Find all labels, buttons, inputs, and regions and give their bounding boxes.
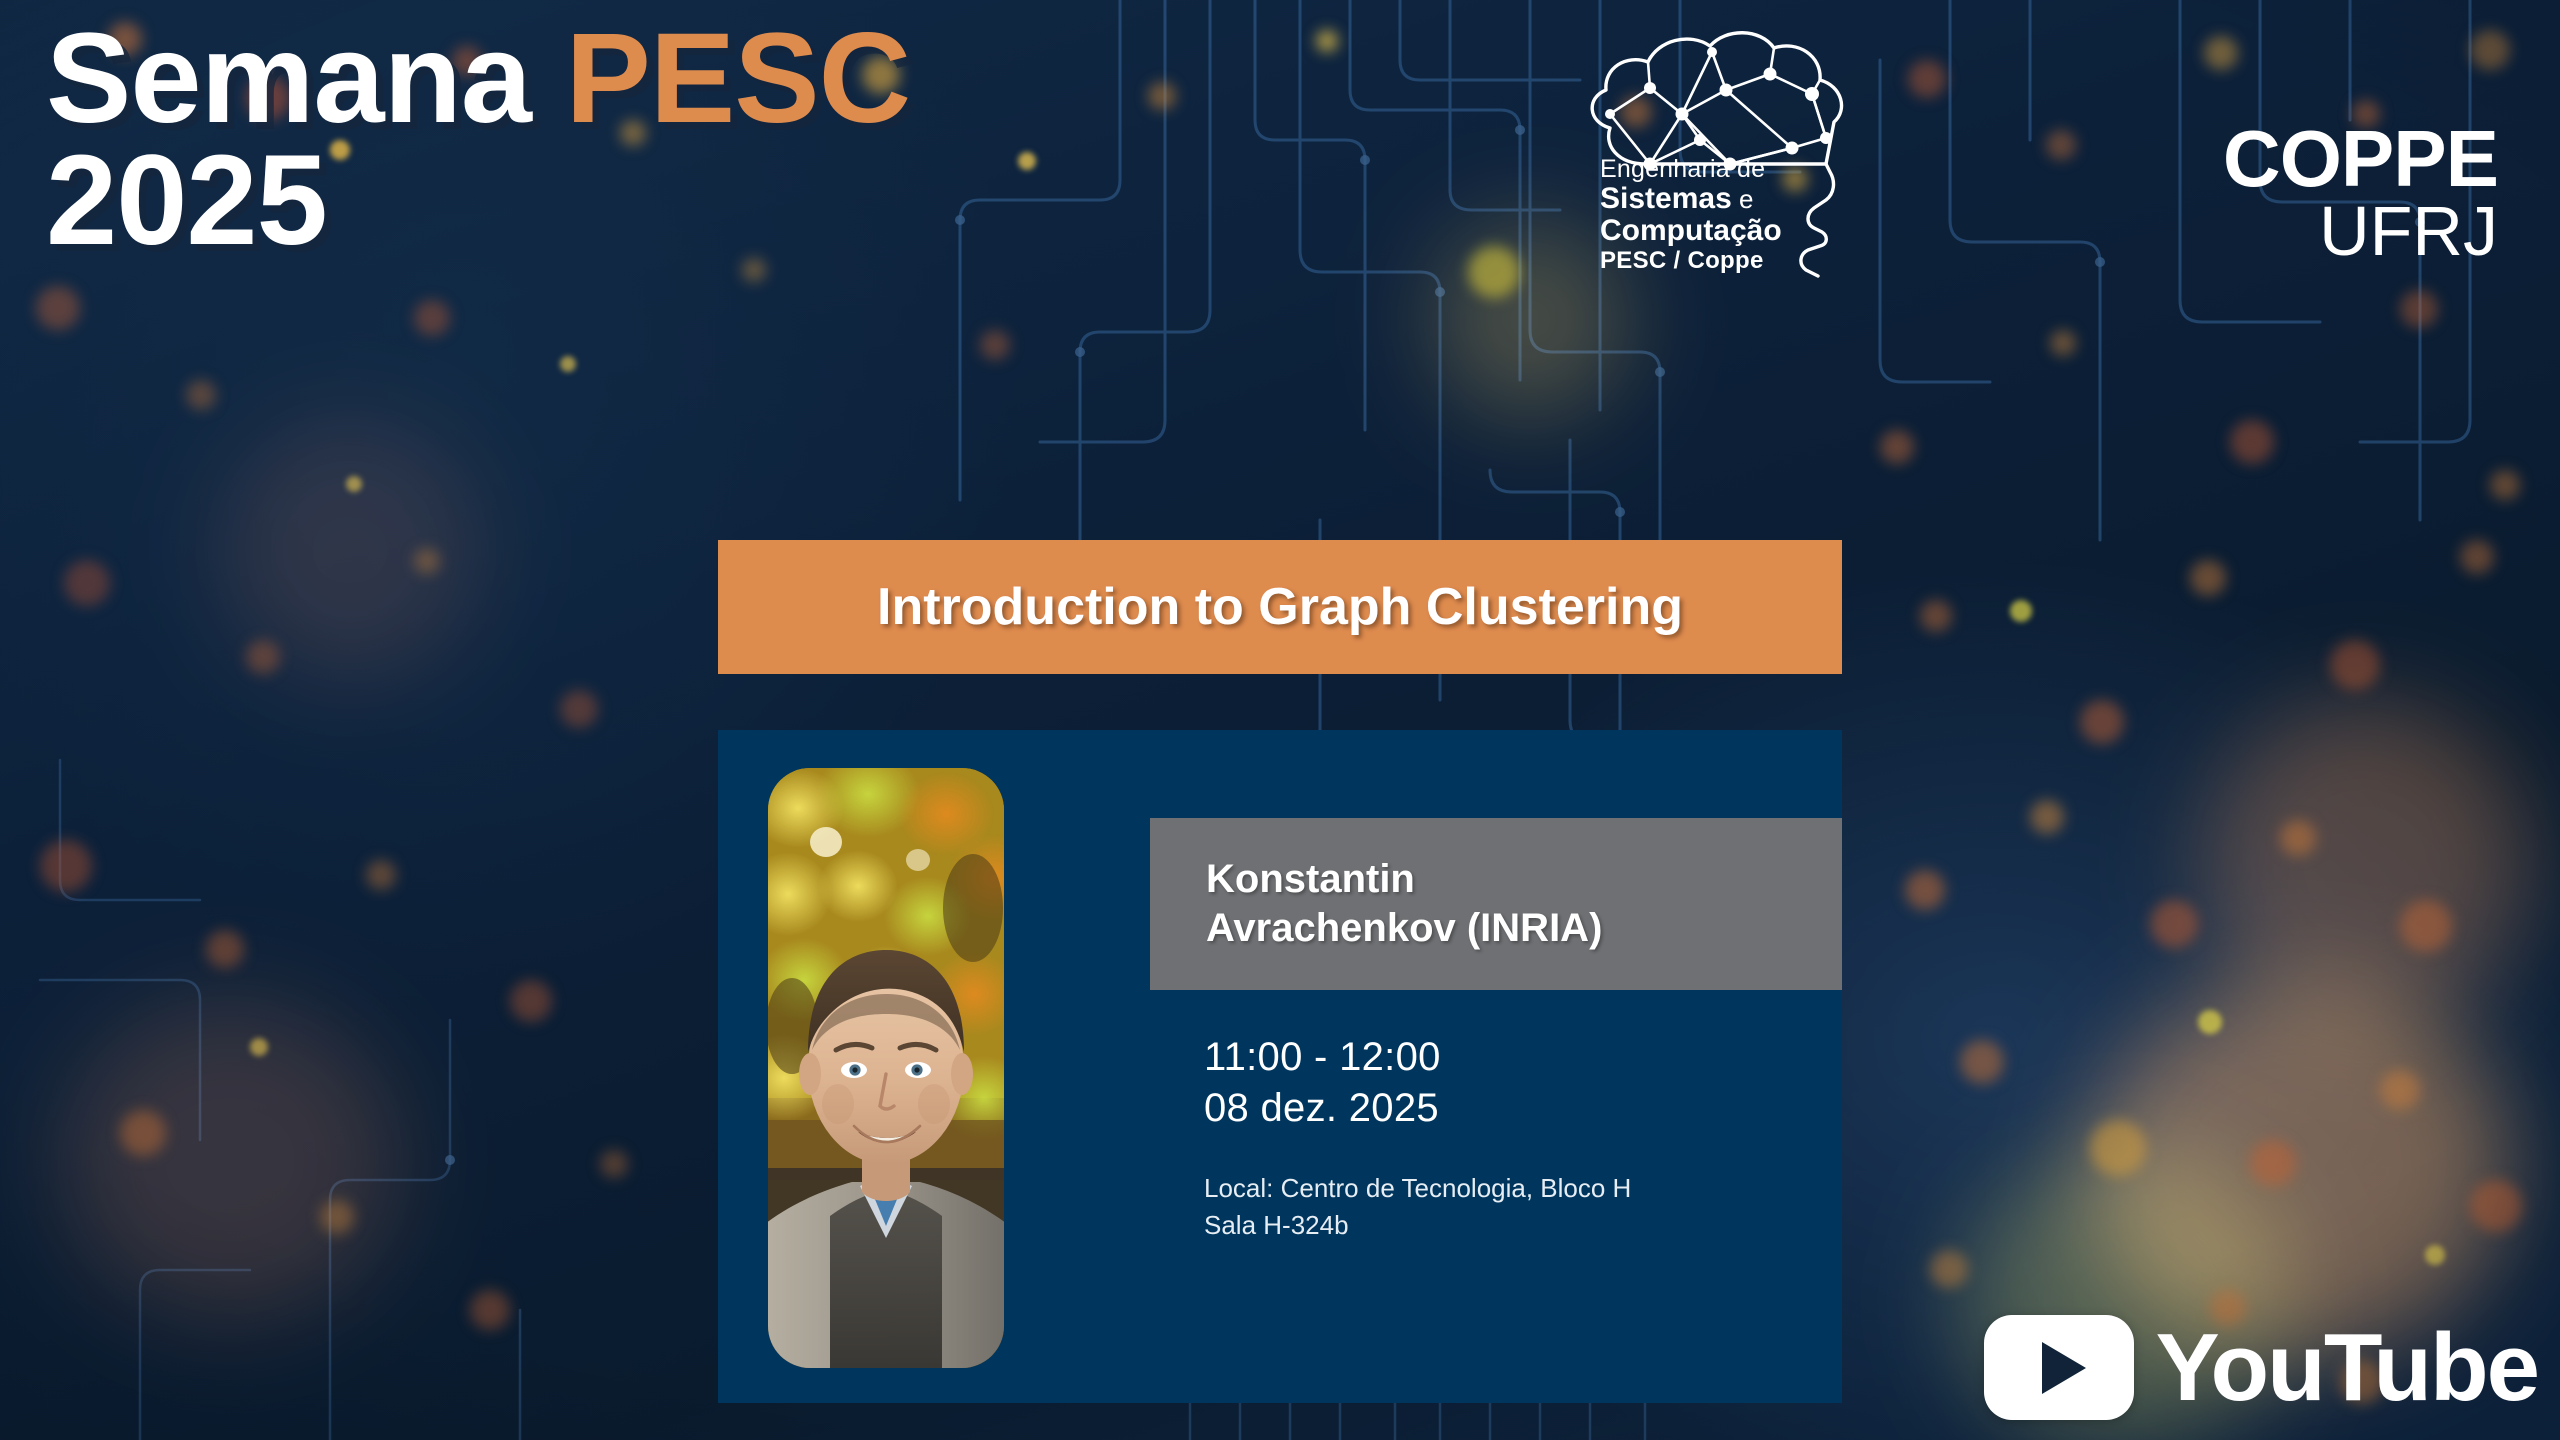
talk-location: Local: Centro de Tecnologia, Bloco HSala… [1204, 1170, 1844, 1244]
pesc-logo-line4: PESC / Coppe [1600, 248, 1782, 274]
speaker-name: KonstantinAvrachenkov (INRIA) [1206, 855, 1602, 953]
youtube-watermark[interactable]: YouTube [1984, 1315, 2538, 1420]
talk-title: Introduction to Graph Clustering [877, 577, 1683, 637]
talk-card: KonstantinAvrachenkov (INRIA) 11:00 - 12… [718, 730, 1842, 1403]
speaker-photo [768, 768, 1004, 1368]
pesc-logo-line2-thin: e [1732, 184, 1754, 214]
talk-title-bar: Introduction to Graph Clustering [718, 540, 1842, 674]
youtube-label: YouTube [2156, 1320, 2538, 1416]
coppe-ufrj-logo: COPPE UFRJ [2223, 122, 2498, 264]
pesc-logo-text: Engenharia de Sistemas e Computação PESC… [1600, 156, 1782, 274]
talk-date: 08 dez. 2025 [1204, 1083, 1844, 1134]
talk-time: 11:00 - 12:00 [1204, 1032, 1844, 1083]
banner-title-accent: PESC [566, 7, 911, 150]
talk-meta: 11:00 - 12:00 08 dez. 2025 Local: Centro… [1204, 1032, 1844, 1244]
coppe-logo-sub: UFRJ [2223, 198, 2498, 265]
banner-title: Semana PESC 2025 [46, 18, 910, 261]
youtube-play-icon [1984, 1315, 2134, 1420]
event-banner: Semana PESC 2025 [0, 0, 2560, 1440]
banner-title-line2: 2025 [46, 140, 910, 262]
coppe-logo-main: COPPE [2223, 122, 2498, 196]
pesc-logo-line1: Engenharia de [1600, 156, 1782, 183]
banner-title-line1: Semana PESC [46, 18, 910, 140]
pesc-coppe-logo: Engenharia de Sistemas e Computação PESC… [1530, 18, 1950, 278]
pesc-logo-line3: Computação [1600, 215, 1782, 247]
pesc-logo-line2-bold: Sistemas [1600, 182, 1732, 215]
speaker-name-bar: KonstantinAvrachenkov (INRIA) [1150, 818, 1842, 990]
pesc-logo-line2: Sistemas e [1600, 183, 1782, 215]
